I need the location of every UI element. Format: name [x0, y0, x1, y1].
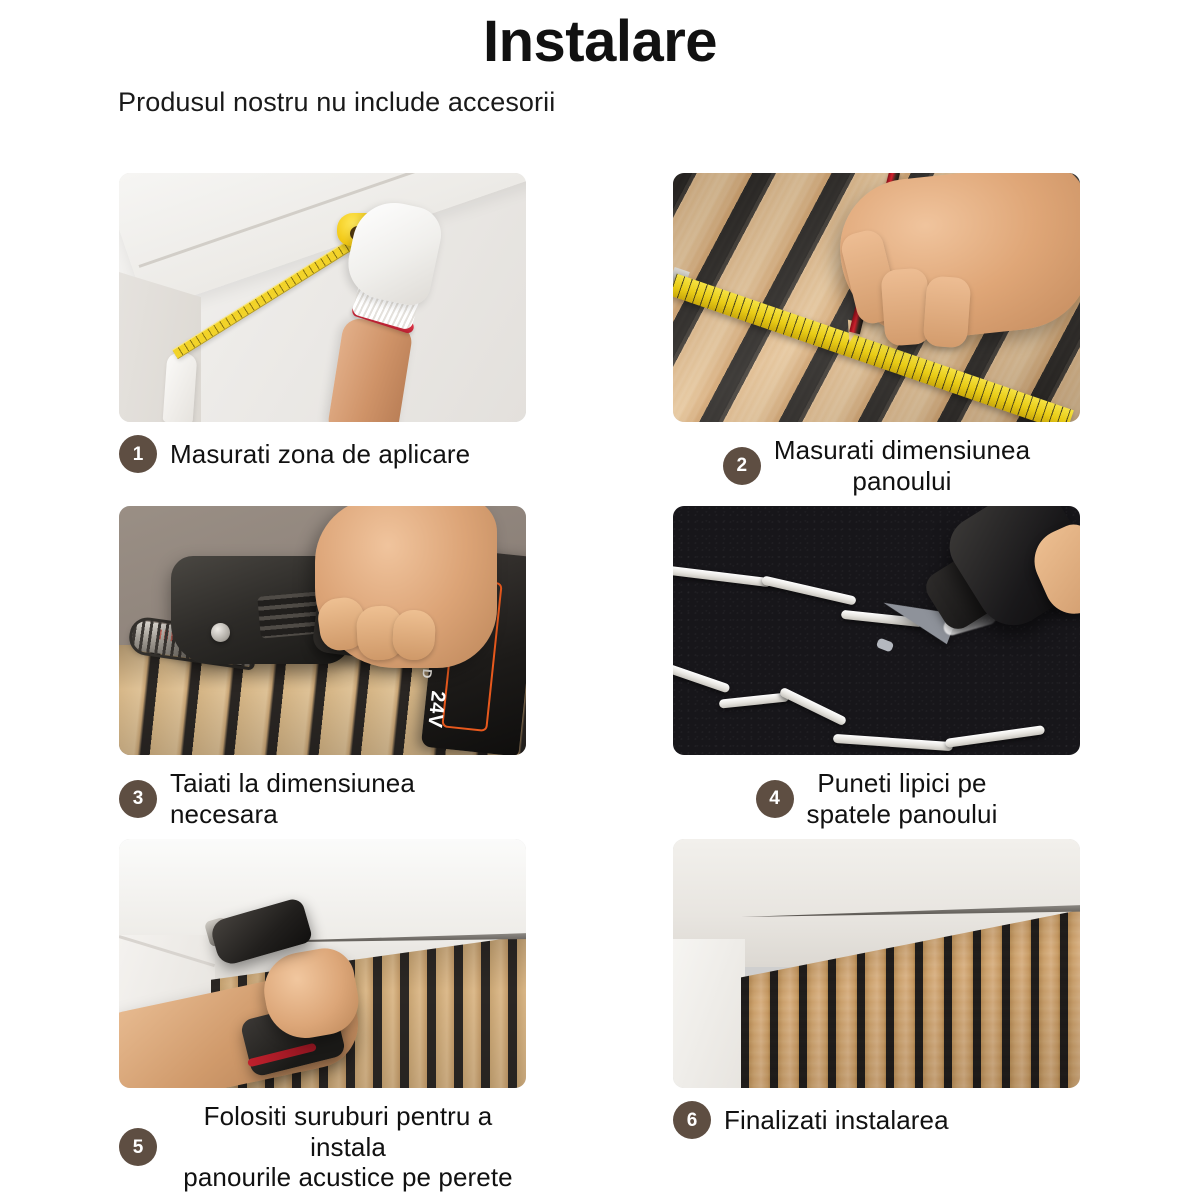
caption-line: Folositi suruburi pentru a instala	[170, 1101, 526, 1162]
step-number-badge: 2	[723, 447, 761, 485]
step-photo-5	[119, 839, 526, 1088]
step-caption-6: 6 Finalizati instalarea	[673, 1101, 1080, 1139]
step-photo-2	[673, 173, 1080, 422]
step-card-1: 1 Masurati zona de aplicare	[119, 173, 526, 473]
caption-line: Puneti lipici pe	[807, 768, 998, 799]
steps-grid: 1 Masurati zona de aplicare	[0, 173, 1200, 1172]
step-card-3: F.EASY.D 24V 3 Taiati la dimensiunea nec…	[119, 506, 526, 829]
steps-row-2: F.EASY.D 24V 3 Taiati la dimensiunea nec…	[0, 506, 1200, 839]
side-wall	[673, 939, 745, 1088]
step-caption-1: 1 Masurati zona de aplicare	[119, 435, 526, 473]
step-photo-6	[673, 839, 1080, 1088]
step-caption-text: Taiati la dimensiunea necesara	[170, 768, 526, 829]
step-card-2: 2 Masurati dimensiunea panoului	[673, 173, 1080, 496]
steps-row-1: 1 Masurati zona de aplicare	[0, 173, 1200, 506]
step-card-4: 4 Puneti lipici pe spatele panoului	[673, 506, 1080, 829]
caption-line: panoului	[774, 466, 1030, 497]
step-photo-1	[119, 173, 526, 422]
step-card-5: 5 Folositi suruburi pentru a instala pan…	[119, 839, 526, 1193]
finger	[392, 609, 437, 661]
step-photo-4	[673, 506, 1080, 755]
step-caption-2: 2 Masurati dimensiunea panoului	[673, 435, 1080, 496]
page-title: Instalare	[0, 0, 1200, 73]
step-number-badge: 3	[119, 780, 157, 818]
caption-line: spatele panoului	[807, 799, 998, 830]
step-number-badge: 1	[119, 435, 157, 473]
caption-line: panourile acustice pe perete	[170, 1162, 526, 1193]
step-caption-text: Finalizati instalarea	[724, 1105, 949, 1136]
step-number-badge: 5	[119, 1128, 157, 1166]
step-caption-text: Masurati zona de aplicare	[170, 439, 470, 470]
tape-hook	[163, 352, 198, 422]
chainsaw-tension-screw	[211, 623, 230, 642]
step-caption-text: Folositi suruburi pentru a instala panou…	[170, 1101, 526, 1193]
page-header: Instalare Produsul nostru nu include acc…	[0, 0, 1200, 118]
finger	[923, 276, 972, 349]
page-subtitle: Produsul nostru nu include accesorii	[118, 87, 1200, 118]
steps-row-3: 5 Folositi suruburi pentru a instala pan…	[0, 839, 1200, 1172]
step-caption-text: Puneti lipici pe spatele panoului	[807, 768, 998, 829]
step-photo-3: F.EASY.D 24V	[119, 506, 526, 755]
step-number-badge: 4	[756, 780, 794, 818]
installation-guide-page: Instalare Produsul nostru nu include acc…	[0, 0, 1200, 1200]
step-caption-text: Masurati dimensiunea panoului	[774, 435, 1030, 496]
step-caption-4: 4 Puneti lipici pe spatele panoului	[673, 768, 1080, 829]
step-number-badge: 6	[673, 1101, 711, 1139]
step-caption-3: 3 Taiati la dimensiunea necesara	[119, 768, 526, 829]
caption-line: Masurati dimensiunea	[774, 435, 1030, 466]
step-card-6: 6 Finalizati instalarea	[673, 839, 1080, 1139]
step-caption-5: 5 Folositi suruburi pentru a instala pan…	[119, 1101, 526, 1193]
